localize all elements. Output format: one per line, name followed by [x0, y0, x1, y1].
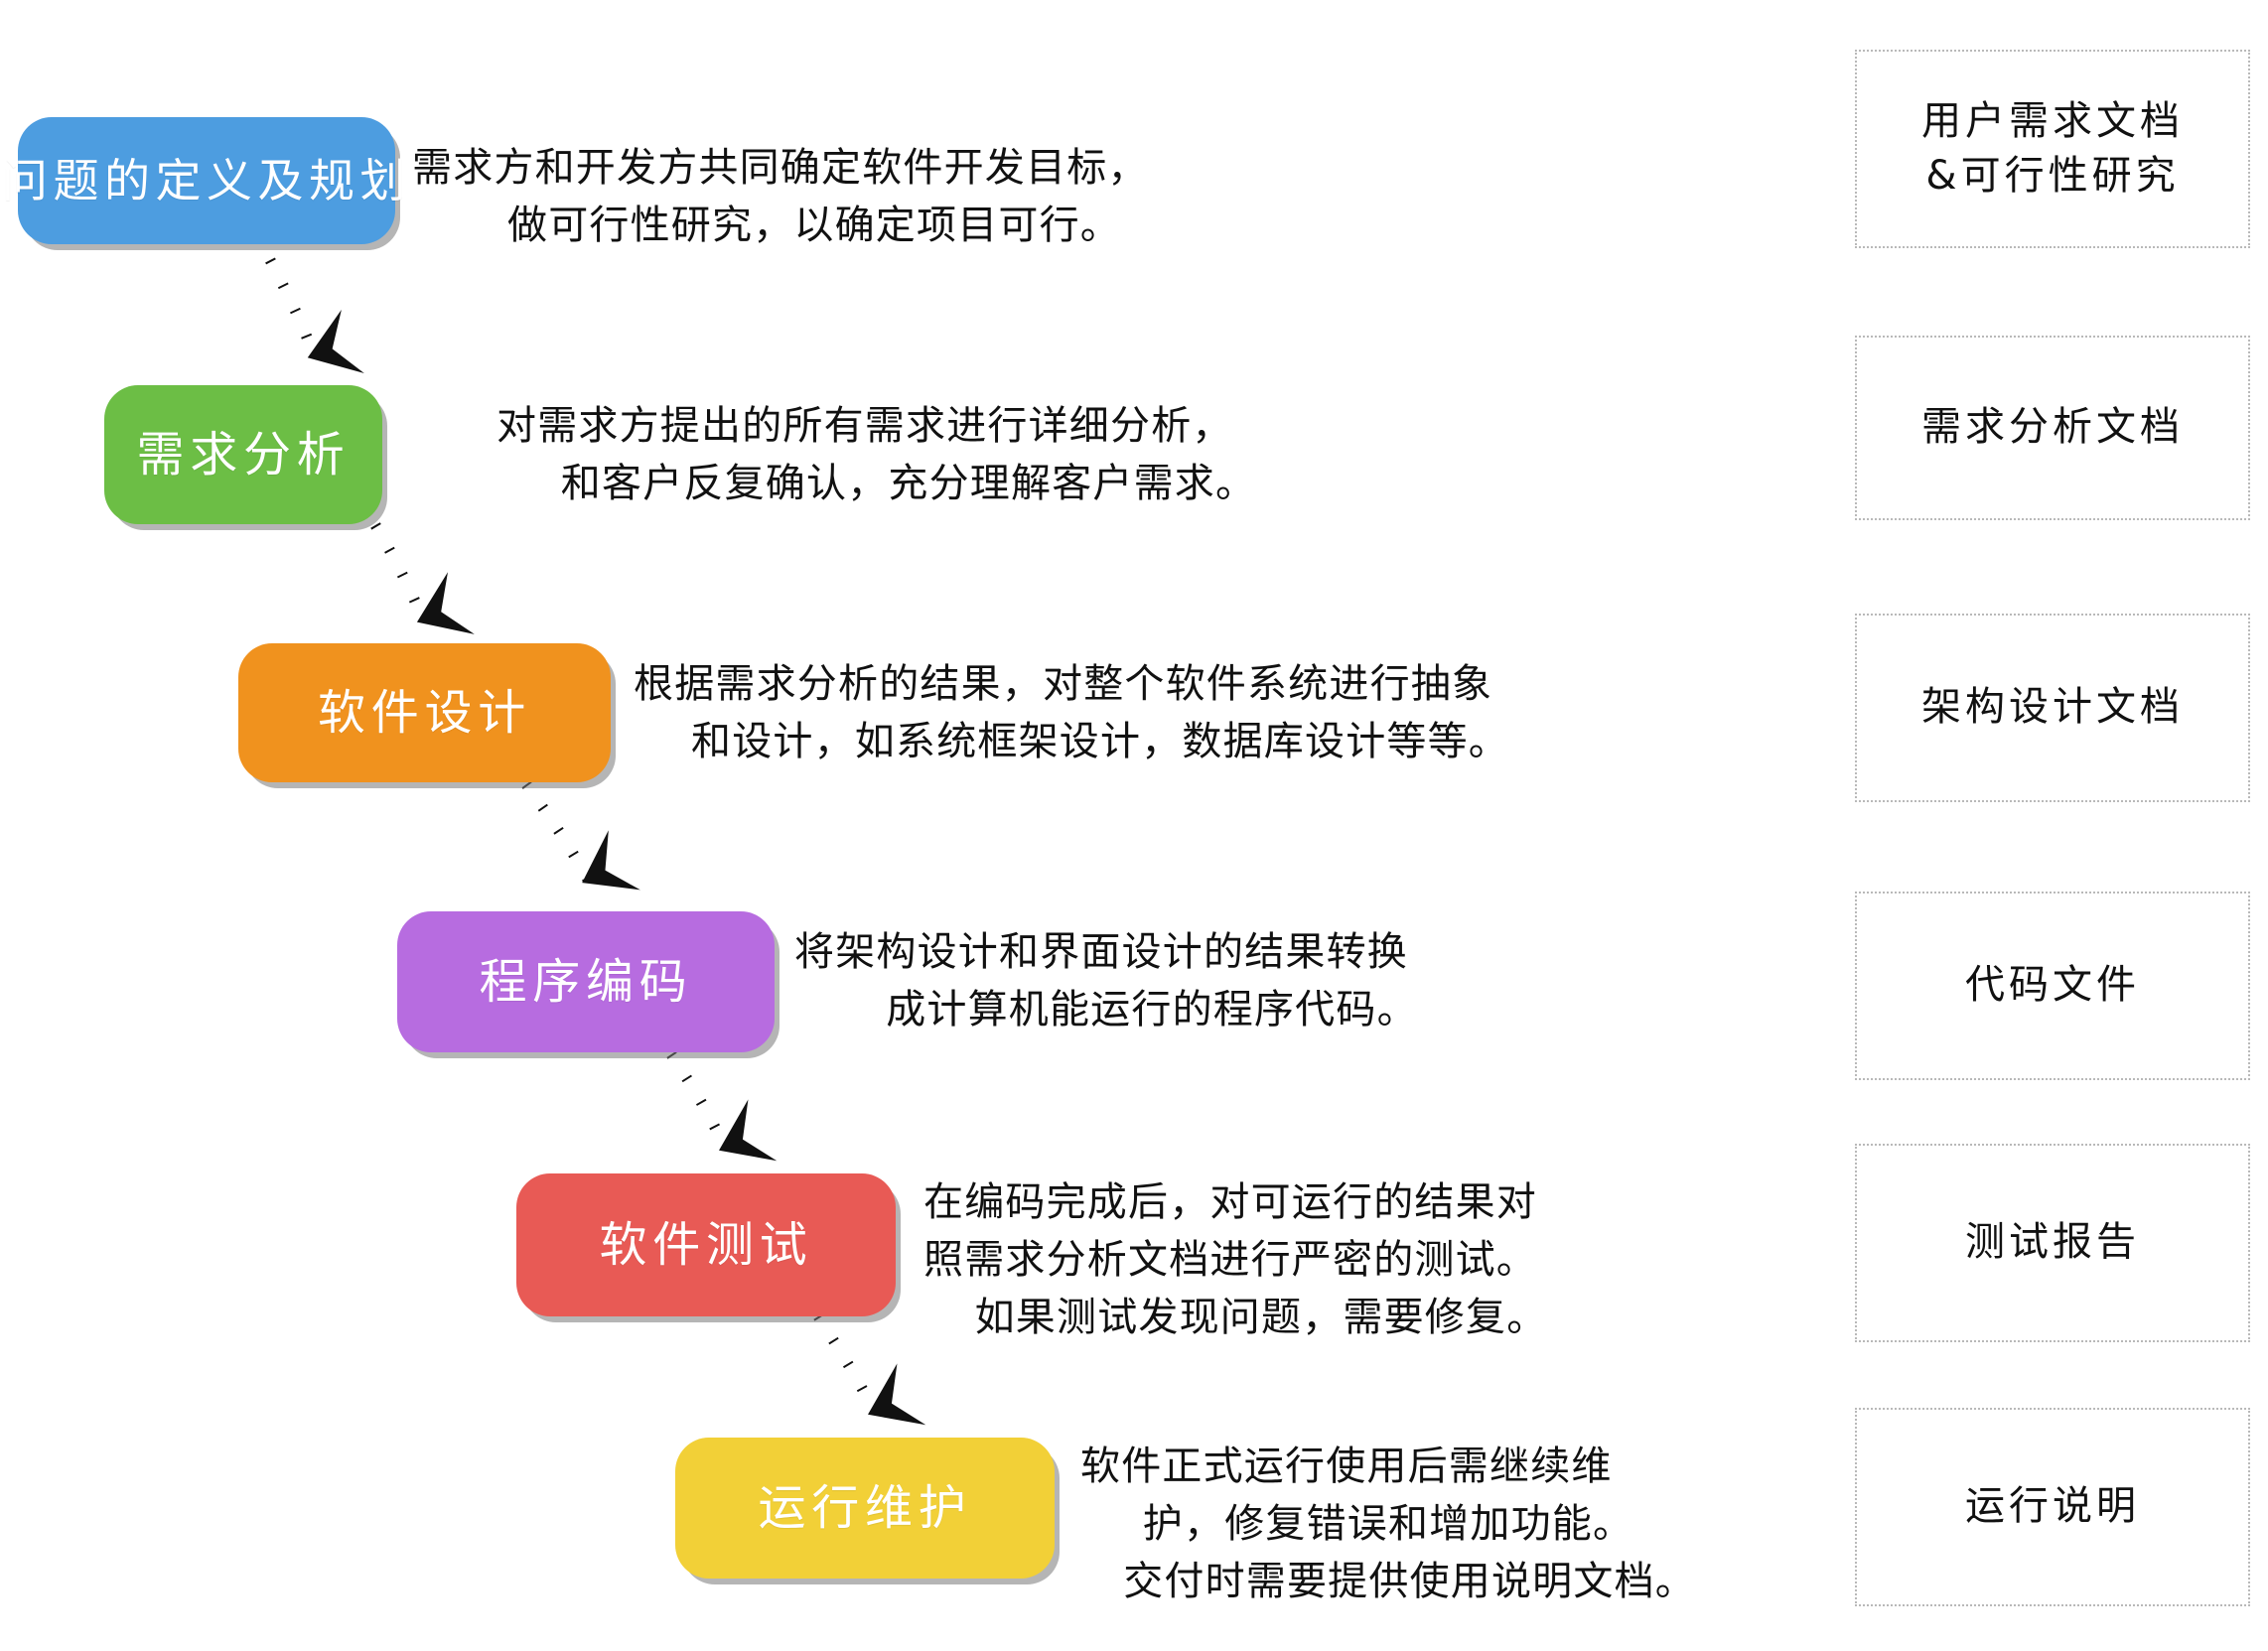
- description-line: 成计算机能运行的程序代码。: [794, 981, 1509, 1038]
- stage-box-problem-definition[interactable]: 问题的定义及规划: [18, 117, 395, 244]
- stage-description-software-design: 根据需求分析的结果，对整个软件系统进行抽象 和设计，如系统框架设计，数据库设计等…: [634, 655, 1567, 770]
- connector-5-6: [818, 1316, 874, 1412]
- stage-description-requirement-analysis: 对需求方提出的所有需求进行详细分析， 和客户反复确认，充分理解客户需求。: [496, 397, 1321, 512]
- stage-description-problem-definition: 需求方和开发方共同确定软件开发目标， 做可行性研究，以确定项目可行。: [412, 139, 1216, 254]
- connector-1-2: [270, 260, 314, 355]
- description-line: 在编码完成后，对可运行的结果对: [923, 1173, 1599, 1231]
- artifact-line: &可行性研究: [1925, 149, 2179, 204]
- description-line: 如果测试发现问题，需要修复。: [923, 1289, 1599, 1346]
- artifact-box-code-files[interactable]: 代码文件: [1855, 892, 2250, 1080]
- artifact-line: 代码文件: [1965, 958, 2140, 1013]
- stage-label: 软件测试: [599, 1221, 812, 1269]
- artifact-box-user-requirement-doc[interactable]: 用户需求文档 &可行性研究: [1855, 50, 2250, 248]
- stage-box-program-coding[interactable]: 程序编码: [397, 911, 775, 1052]
- description-line: 软件正式运行使用后需继续维: [1080, 1438, 1696, 1495]
- description-line: 和客户反复确认，充分理解客户需求。: [496, 455, 1321, 512]
- stage-description-software-testing: 在编码完成后，对可运行的结果对 照需求分析文档进行严密的测试。 如果测试发现问题…: [923, 1173, 1599, 1346]
- artifact-line: 用户需求文档: [1921, 94, 2184, 149]
- artifact-line: 需求分析文档: [1921, 400, 2184, 455]
- diagram-canvas: 问题的定义及规划 需求方和开发方共同确定软件开发目标， 做可行性研究，以确定项目…: [0, 0, 2268, 1651]
- connector-2-3: [375, 525, 423, 619]
- artifact-box-architecture-design-doc[interactable]: 架构设计文档: [1855, 614, 2250, 802]
- artifact-box-requirement-analysis-doc[interactable]: 需求分析文档: [1855, 336, 2250, 520]
- stage-box-software-design[interactable]: 软件设计: [238, 643, 611, 782]
- stage-box-software-testing[interactable]: 软件测试: [516, 1173, 896, 1316]
- artifact-line: 架构设计文档: [1921, 680, 2184, 735]
- stage-description-operation-maintenance: 软件正式运行使用后需继续维 护，修复错误和增加功能。 交付时需要提供使用说明文档…: [1080, 1438, 1696, 1610]
- artifact-line: 测试报告: [1965, 1215, 2140, 1270]
- artifact-box-operation-manual[interactable]: 运行说明: [1855, 1408, 2250, 1606]
- description-line: 需求方和开发方共同确定软件开发目标，: [412, 139, 1216, 197]
- description-line: 将架构设计和界面设计的结果转换: [794, 923, 1509, 981]
- description-line: 护，修复错误和增加功能。: [1080, 1495, 1696, 1553]
- description-line: 照需求分析文档进行严密的测试。: [923, 1231, 1599, 1289]
- stage-description-program-coding: 将架构设计和界面设计的结果转换 成计算机能运行的程序代码。: [794, 923, 1509, 1038]
- stage-box-operation-maintenance[interactable]: 运行维护: [675, 1438, 1055, 1579]
- connector-3-4: [526, 784, 588, 880]
- description-line: 根据需求分析的结果，对整个软件系统进行抽象: [634, 655, 1567, 713]
- stage-label: 软件设计: [318, 689, 531, 737]
- stage-label: 程序编码: [479, 958, 692, 1006]
- artifact-line: 运行说明: [1965, 1479, 2140, 1534]
- connector-4-5: [671, 1054, 725, 1148]
- description-line: 和设计，如系统框架设计，数据库设计等等。: [634, 713, 1567, 770]
- description-line: 交付时需要提供使用说明文档。: [1080, 1553, 1696, 1610]
- stage-label: 需求分析: [136, 431, 350, 479]
- description-line: 做可行性研究，以确定项目可行。: [412, 197, 1216, 254]
- stage-label: 问题的定义及规划: [2, 158, 411, 204]
- artifact-box-test-report[interactable]: 测试报告: [1855, 1144, 2250, 1342]
- stage-label: 运行维护: [758, 1484, 971, 1532]
- description-line: 对需求方提出的所有需求进行详细分析，: [496, 397, 1321, 455]
- stage-box-requirement-analysis[interactable]: 需求分析: [104, 385, 382, 524]
